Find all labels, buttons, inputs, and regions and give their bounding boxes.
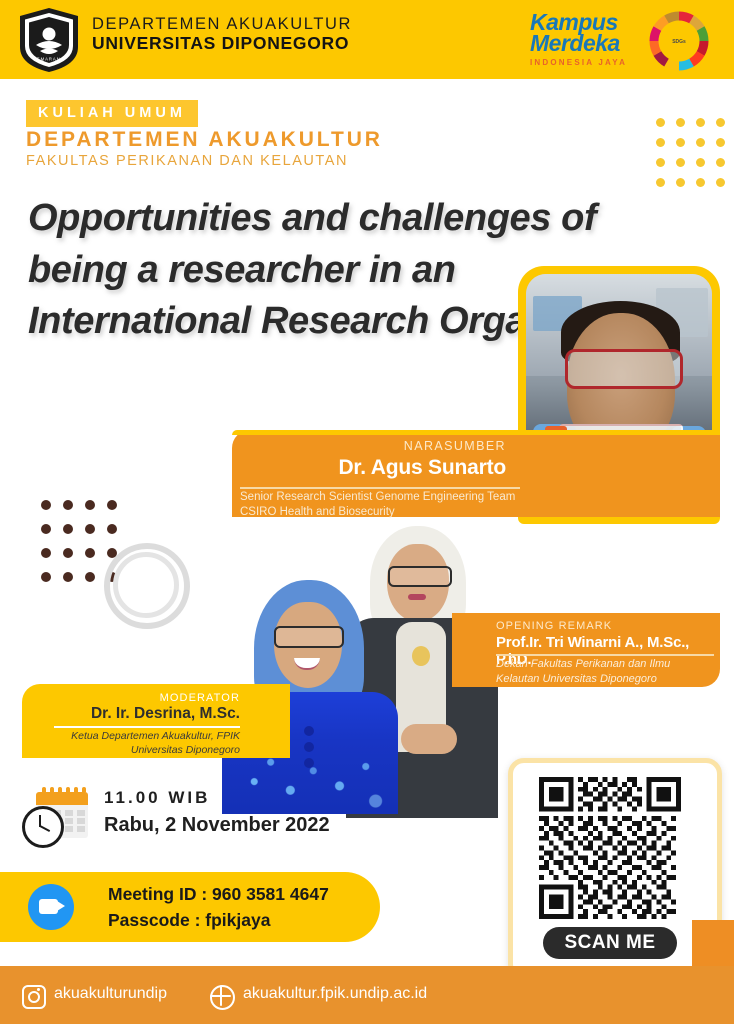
kuliah-umum-badge: KULIAH UMUM — [26, 100, 198, 127]
sdg-wheel-icon: SDGs — [648, 10, 710, 72]
calendar-clock-icon — [22, 786, 88, 842]
speaker-info-box: NARASUMBER Dr. Agus Sunarto Senior Resea… — [232, 430, 720, 517]
qr-code[interactable] — [539, 777, 681, 919]
kampus-merdeka-logo: Kampus Merdeka INDONESIA JAYA — [530, 12, 655, 70]
speaker-label: NARASUMBER — [404, 439, 506, 453]
speaker-affiliation: Senior Research Scientist Genome Enginee… — [240, 490, 540, 520]
instagram-icon[interactable] — [22, 985, 46, 1009]
undip-logo: SEMARANG — [18, 7, 80, 73]
instagram-handle[interactable]: akuakulturundip — [54, 985, 167, 1003]
moderator-divider — [54, 726, 240, 728]
moderator-button — [304, 758, 314, 768]
opening-remark-affiliation: Dekan Fakultas Perikanan dan Ilmu Kelaut… — [496, 657, 716, 686]
qr-card[interactable]: SCAN ME — [508, 758, 722, 980]
moderator-button — [304, 726, 314, 736]
decor-dots-top-right — [656, 118, 734, 198]
header-department-text: DEPARTEMEN AKUAKULTUR UNIVERSITAS DIPONE… — [92, 16, 352, 53]
meeting-passcode: Passcode : fpikjaya — [108, 910, 270, 931]
event-date: Rabu, 2 November 2022 — [104, 814, 330, 837]
header-department-line1: DEPARTEMEN AKUAKULTUR — [92, 16, 352, 34]
decor-ring-inner — [113, 552, 179, 618]
dean-lips — [408, 594, 426, 600]
scan-me-label: SCAN ME — [564, 932, 655, 954]
svg-text:SEMARANG: SEMARANG — [33, 57, 65, 62]
photo-safety-goggles — [565, 349, 683, 389]
opening-remark-label: OPENING REMARK — [496, 620, 612, 632]
poster-header: SEMARANG DEPARTEMEN AKUAKULTUR UNIVERSIT… — [0, 0, 734, 79]
moderator-button — [304, 742, 314, 752]
meeting-id: Meeting ID : 960 3581 4647 — [108, 884, 329, 905]
moderator-name: Dr. Ir. Desrina, M.Sc. — [91, 705, 240, 723]
speaker-name: Dr. Agus Sunarto — [338, 456, 506, 480]
poster-root: SEMARANG DEPARTEMEN AKUAKULTUR UNIVERSIT… — [0, 0, 734, 1024]
moderator-info-box: MODERATOR Dr. Ir. Desrina, M.Sc. Ketua D… — [22, 684, 290, 758]
scan-me-button[interactable]: SCAN ME — [543, 927, 677, 959]
opening-remark-divider — [496, 654, 714, 656]
svg-text:SDGs: SDGs — [672, 39, 686, 45]
speaker-divider — [240, 487, 520, 489]
clock-icon — [22, 806, 64, 848]
kampus-merdeka-tagline: INDONESIA JAYA — [530, 58, 655, 67]
meeting-info-pill: Meeting ID : 960 3581 4647 Passcode : fp… — [0, 872, 380, 942]
intro-faculty: FAKULTAS PERIKANAN DAN KELAUTAN — [26, 153, 348, 169]
zoom-camera-icon — [28, 884, 74, 930]
website-url[interactable]: akuakultur.fpik.undip.ac.id — [243, 985, 427, 1003]
dean-necklace — [412, 646, 430, 666]
moderator-label: MODERATOR — [160, 692, 240, 704]
intro-department: DEPARTEMEN AKUAKULTUR — [26, 128, 383, 152]
moderator-affiliation: Ketua Departemen Akuakultur, FPIK Univer… — [36, 729, 240, 757]
kampus-merdeka-line2: Merdeka — [530, 33, 655, 54]
poster-footer: akuakulturundip akuakultur.fpik.undip.ac… — [0, 966, 734, 1024]
dean-hands — [401, 724, 457, 754]
kuliah-umum-label: KULIAH UMUM — [38, 105, 186, 121]
event-time: 11.00 WIB — [104, 788, 210, 808]
opening-remark-box: OPENING REMARK Prof.Ir. Tri Winarni A., … — [452, 613, 720, 687]
moderator-glasses — [274, 626, 344, 648]
globe-icon[interactable] — [210, 985, 235, 1010]
decor-corner-accent — [692, 920, 734, 970]
header-department-line2: UNIVERSITAS DIPONEGORO — [92, 34, 352, 53]
